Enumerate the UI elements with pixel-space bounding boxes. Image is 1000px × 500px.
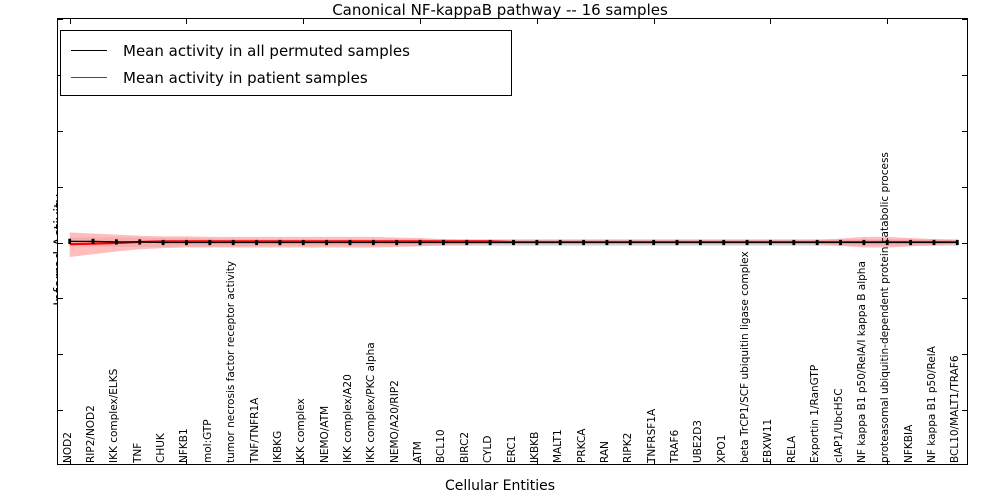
legend-item-patient: Mean activity in patient samples: [71, 64, 511, 91]
x-tick-label: proteasomal ubiquitin-dependent protein …: [880, 152, 890, 463]
x-tick-label: TNF/TNFR1A: [250, 398, 260, 463]
x-tick-label: RIP2/NOD2: [86, 405, 96, 463]
x-tick-label: TRAF6: [670, 430, 680, 463]
chart-title: Canonical NF-kappaB pathway -- 16 sample…: [0, 0, 1000, 19]
x-tick-label: beta TrCP1/SCF ubiquitin ligase complex: [740, 251, 750, 463]
x-tick-label: TNF: [133, 443, 143, 463]
x-tick-label: BCL10/MALT1/TRAF6: [950, 355, 960, 463]
x-tick-label: mol:GTP: [203, 419, 213, 463]
x-tick-label: UBE2D3: [693, 420, 703, 463]
x-tick-label: NF kappa B1 p50/RelA: [927, 346, 937, 463]
x-axis-label: Cellular Entities: [0, 478, 1000, 494]
x-tick-label: NEMO/ATM: [320, 406, 330, 463]
x-tick-label: PRKCA: [577, 429, 587, 463]
x-tick-label: Exportin 1/RanGTP: [810, 365, 820, 463]
x-tick-label: NOD2: [63, 432, 73, 463]
x-tick-label: BCL10: [436, 429, 446, 463]
x-tick-label: IKK complex: [296, 398, 306, 463]
x-tick-label: CHUK: [156, 433, 166, 463]
x-tick-label: RIPK2: [623, 433, 633, 463]
x-tick-label: BIRC2: [460, 432, 470, 463]
x-tick-label: IKBKG: [273, 431, 283, 463]
legend: Mean activity in all permuted samples Me…: [60, 30, 512, 96]
x-tick-label: IKK complex/A20: [343, 374, 353, 463]
x-tick-label: NFKBIA: [904, 425, 914, 463]
legend-item-permuted: Mean activity in all permuted samples: [71, 37, 511, 64]
x-tick-label: FBXW11: [763, 419, 773, 463]
x-tick-label: RAN: [600, 441, 610, 463]
legend-label-patient: Mean activity in patient samples: [123, 69, 368, 87]
x-tick-label: MALT1: [553, 429, 563, 463]
legend-swatch-permuted: [71, 50, 107, 51]
x-tick-label: IKK complex/PKC alpha: [366, 342, 376, 463]
x-tick-label: XPO1: [717, 435, 727, 463]
x-tick-label: cIAP1/UbcH5C: [834, 388, 844, 463]
x-tick-label: NEMO/A20/RIP2: [390, 380, 400, 463]
x-tick-label: IKK complex/ELKS: [109, 369, 119, 463]
x-tick-label: CYLD: [483, 436, 493, 464]
x-tick-label: NF kappa B1 p50/RelA/I kappa B alpha: [857, 261, 867, 463]
legend-swatch-patient: [71, 77, 107, 78]
x-tick-label: NFKB1: [179, 428, 189, 463]
x-tick-label: tumor necrosis factor receptor activity: [226, 261, 236, 463]
x-tick-label: TNFRSF1A: [647, 409, 657, 463]
x-tick-label: RELA: [787, 436, 797, 463]
legend-label-permuted: Mean activity in all permuted samples: [123, 42, 410, 60]
x-tick-label: ERC1: [507, 436, 517, 463]
x-tick-label: IKBKB: [530, 432, 540, 463]
x-tick-label: ATM: [413, 441, 423, 463]
figure: Canonical NF-kappaB pathway -- 16 sample…: [0, 0, 1000, 500]
